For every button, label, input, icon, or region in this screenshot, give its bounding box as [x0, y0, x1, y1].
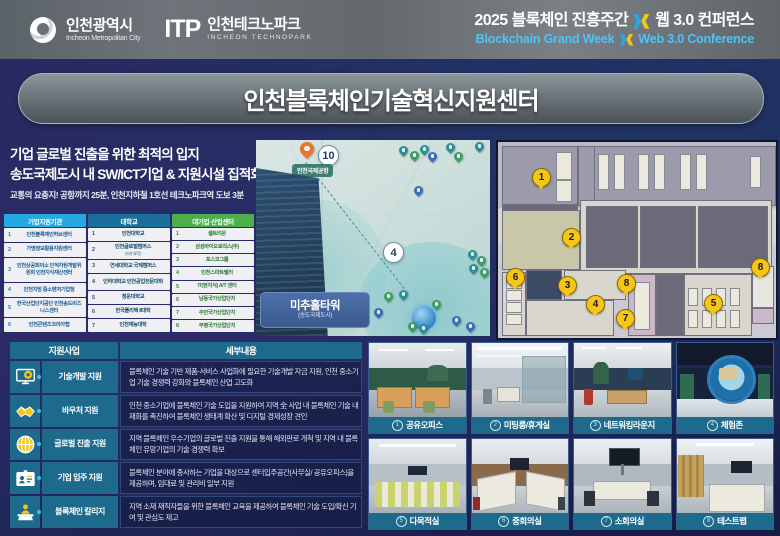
program-label: 바우처 지원 — [42, 395, 118, 427]
floor-furniture — [506, 290, 522, 301]
program-row: 기업 입주 지원 블록체인 분야에 종사하는 기업을 대상으로 센터입주공간(사… — [10, 462, 362, 494]
floor-furniture — [688, 288, 698, 306]
map-pin[interactable] — [477, 256, 486, 268]
incheon-name-en: Incheon Metropolitan City — [66, 35, 140, 42]
floor-furniture — [688, 310, 698, 328]
lead-block: 기업 글로벌 진출을 위한 최적의 입지 송도국제도시 내 SW/ICT기업 &… — [10, 145, 272, 201]
gallery-item[interactable]: 2 미팅룸/휴게실 — [471, 342, 570, 434]
org-row-num: 5 — [172, 284, 183, 290]
org-row-name: 한국산업단지공단 인천송도비즈니스센터 — [15, 301, 86, 314]
support-programs-table: 지원사업 세부내용 기술개발 지원 블록체인 기술 기반 제품-서비스 사업화에… — [10, 342, 362, 528]
org-row: 8부평국가산업단지 — [172, 320, 254, 332]
floor-furniture — [716, 310, 726, 328]
floor-marker-3[interactable]: 3 — [558, 276, 577, 295]
org-header-university: 대학교 — [88, 214, 170, 227]
gallery-item[interactable]: 3 네트워킹라운지 — [573, 342, 672, 434]
org-row-name: 한국폴리텍 II대학 — [99, 308, 170, 315]
map-pin[interactable] — [399, 146, 408, 158]
map-pin[interactable] — [419, 324, 428, 336]
gallery-number: 2 — [490, 420, 501, 431]
org-row-num: 4 — [4, 287, 15, 293]
programs-header-row: 지원사업 세부내용 — [10, 342, 362, 359]
org-row: 7주안국가산업단지 — [172, 307, 254, 319]
program-desc: 지역 소재 재직자들을 위한 블록체인 교육을 제공하여 블록체인 기술 도입/… — [120, 496, 362, 528]
programs-header-col1: 지원사업 — [10, 342, 118, 359]
facility-photo-shared-office — [369, 343, 466, 417]
programs-header-col2: 세부내용 — [120, 342, 362, 359]
gallery-caption: 소회의실 — [615, 515, 644, 527]
org-row: 5IT(현지식) A/T 센터 — [172, 281, 254, 293]
org-column-enterprise: 대기업·산업센터 1셀트리온 2삼성바이오로직스(주) 3포스코그룹 4인천스마… — [172, 214, 254, 332]
event-title-en-b: Web 3.0 Conference — [638, 33, 754, 46]
org-row-name: 인천대학교 — [99, 231, 170, 238]
id-card-icon — [10, 462, 40, 494]
floor-furniture — [556, 152, 572, 180]
org-row-num: 7 — [88, 323, 99, 329]
floor-room — [526, 270, 562, 300]
map-pin[interactable] — [480, 268, 489, 280]
org-row-num: 2 — [172, 244, 183, 250]
incheon-name-kr: 인천광역시 — [66, 18, 140, 33]
floor-furniture — [730, 288, 740, 306]
org-row-num: 2 — [88, 247, 99, 253]
org-row-name: 인천글로벌캠퍼스(5개 대학) — [99, 244, 170, 256]
org-row-name: 인천상공회의소 인적자원개발위원회 인천지식재산센터 — [15, 263, 86, 276]
org-row-num: 8 — [172, 323, 183, 329]
map-pin[interactable] — [452, 316, 461, 328]
org-row-name: 인천콘텐츠코리아랩 — [15, 322, 86, 329]
facility-photo-medium-conference-room — [472, 439, 569, 513]
org-row-num: 2 — [4, 247, 15, 253]
map-pin[interactable] — [399, 290, 408, 302]
floor-furniture — [614, 154, 625, 190]
gallery-number: 1 — [392, 420, 403, 431]
org-row-num: 4 — [172, 270, 183, 276]
floor-furniture — [506, 302, 522, 313]
itp-name-en: INCHEON TECHNOPARK — [207, 35, 312, 42]
org-row-name: 연세대학교 국제캠퍼스 — [99, 263, 170, 270]
floor-marker-2[interactable]: 2 — [562, 228, 581, 247]
handshake-icon — [10, 395, 40, 427]
gallery-caption: 다목적실 — [410, 515, 439, 527]
floor-furniture — [638, 154, 649, 190]
org-row: 3인천상공회의소 인적자원개발위원회 인천지식재산센터 — [4, 258, 86, 283]
itp-name-kr: 인천테크노파크 — [207, 17, 312, 32]
org-row-num: 7 — [172, 310, 183, 316]
org-row-num: 3 — [88, 263, 99, 269]
floor-furniture — [730, 310, 740, 328]
org-row-num: 5 — [88, 295, 99, 301]
monitor-gear-icon — [10, 361, 40, 393]
org-row-num: 1 — [172, 231, 183, 237]
org-row-name: 포스코그룹 — [183, 257, 254, 264]
map-badge-airport-distance: 10 — [318, 145, 339, 166]
floor-room — [586, 206, 638, 268]
lead-line-1: 기업 글로벌 진출을 위한 최적의 입지 — [10, 147, 199, 162]
program-row: 글로벌 진출 지원 지역 블록체인 우수기업의 글로벌 진출 지원을 통해 해외… — [10, 429, 362, 461]
org-row: 2삼성바이오로직스(주) — [172, 241, 254, 253]
program-row: 바우처 지원 인천 중소기업에 블록체인 기술 도입을 지원하여 지역 全 사업… — [10, 395, 362, 427]
floor-furniture — [556, 180, 572, 202]
org-row: 6인천콘텐츠코리아랩 — [4, 318, 86, 332]
gallery-number: 5 — [396, 516, 407, 527]
program-label: 블록체인 칼리지 — [42, 496, 118, 528]
org-row-num: 5 — [4, 305, 15, 311]
org-row-name: IT(현지식) A/T 센터 — [183, 283, 254, 290]
org-column-university: 대학교 1인천대학교 2인천글로벌캠퍼스(5개 대학) 3연세대학교 국제캠퍼스… — [88, 214, 170, 332]
map-pin[interactable] — [469, 264, 478, 276]
org-row: 5청운대학교 — [88, 291, 170, 304]
floor-marker-8b[interactable]: 8 — [751, 258, 770, 277]
org-row-name: 부평국가산업단지 — [183, 323, 254, 330]
org-row-num: 3 — [4, 267, 15, 273]
program-desc: 블록체인 기술 기반 제품-서비스 사업화에 필요한 기술개발 자금 지원, 인… — [120, 361, 362, 393]
org-row-name: 주안국가산업단지 — [183, 310, 254, 317]
gallery-item[interactable]: 1 공유오피스 — [368, 342, 467, 434]
tower-name: 미추홀타워 — [290, 300, 340, 313]
event-title-en-a: Blockchain Grand Week — [476, 33, 615, 46]
org-row-name: 청운대학교 — [99, 294, 170, 301]
org-header-support: 기업지원기관 — [4, 214, 86, 227]
org-row-num: 6 — [4, 322, 15, 328]
floor-room — [656, 274, 684, 336]
event-branding: 2025 블록체인 진흥주간 웹 3.0 컨퍼런스 Blockchain Gra… — [474, 13, 780, 46]
org-row-name: 인천재능대학 — [99, 322, 170, 329]
gallery-number: 3 — [590, 420, 601, 431]
map-pin[interactable] — [466, 322, 475, 334]
globe-icon — [10, 429, 40, 461]
facility-photo-exhibit-zone — [677, 343, 774, 417]
program-label: 기업 입주 지원 — [42, 462, 118, 494]
floor-marker-4[interactable]: 4 — [586, 295, 605, 314]
incheon-city-logo: 인천광역시 Incheon Metropolitan City — [0, 17, 140, 43]
floor-furniture — [680, 154, 691, 190]
gallery-caption: 미팅룸/휴게실 — [504, 419, 550, 431]
x-logo-icon — [633, 14, 650, 29]
org-row: 6한국폴리텍 II대학 — [88, 305, 170, 318]
lead-line-2: 송도국제도시 내 SW/ICT기업 & 지원시설 집적화!! — [10, 167, 269, 182]
org-row: 2가명정보활용지원센터 — [4, 243, 86, 257]
lecturer-icon — [10, 496, 40, 528]
gallery-item[interactable]: 7 소회의실 — [573, 438, 672, 530]
itp-wordmark: ITP — [164, 15, 200, 44]
org-row-num: 6 — [88, 309, 99, 315]
map-tower-label: 미추홀타워 (송도국제도시) — [260, 292, 370, 328]
floor-room — [640, 206, 696, 268]
gallery-caption: 공유오피스 — [406, 419, 443, 431]
floor-furniture — [750, 156, 761, 188]
location-map[interactable]: 10 인천국제공항 4 미추홀타워 (송도국제도시) — [256, 140, 490, 336]
poster-root: 인천광역시 Incheon Metropolitan City ITP 인천테크… — [0, 0, 780, 536]
gallery-caption: 네트워킹라운지 — [604, 419, 655, 431]
gallery-number: 7 — [601, 516, 612, 527]
org-row: 2인천글로벌캠퍼스(5개 대학) — [88, 242, 170, 259]
tower-sub: (송도국제도시) — [298, 313, 332, 320]
org-row: 6남동국가산업단지 — [172, 294, 254, 306]
map-pin[interactable] — [475, 142, 484, 154]
program-label: 기술개발 지원 — [42, 361, 118, 393]
map-pin[interactable] — [408, 322, 417, 334]
facility-gallery: 1 공유오피스 2 미팅룸/휴게실 — [368, 342, 774, 530]
org-column-support: 기업지원기관 1인천블록체인허브센터 2가명정보활용지원센터 3인천상공회의소 … — [4, 214, 86, 332]
map-pin[interactable] — [384, 292, 393, 304]
facility-photo-networking-lounge — [574, 343, 671, 417]
itp-logo: ITP 인천테크노파크 INCHEON TECHNOPARK — [164, 15, 312, 44]
floor-plan[interactable]: 1 2 3 4 5 6 7 8 8 — [496, 140, 778, 340]
org-header-enterprise: 대기업·산업센터 — [172, 214, 254, 227]
program-desc: 지역 블록체인 우수기업의 글로벌 진출 지원을 통해 해외판로 개척 및 지역… — [120, 429, 362, 461]
map-pin[interactable] — [428, 152, 437, 164]
gallery-item[interactable]: 6 중회의실 — [471, 438, 570, 530]
page-title: 인천블록체인기술혁신지원센터 — [18, 73, 764, 124]
org-row: 7인천재능대학 — [88, 319, 170, 332]
facility-photo-small-conference-room — [574, 439, 671, 513]
gallery-caption: 중회의실 — [512, 515, 541, 527]
org-row-name: 가명정보활용지원센터 — [15, 246, 86, 253]
facility-photo-multipurpose-room — [369, 439, 466, 513]
incheon-ci-icon — [30, 17, 56, 43]
gallery-caption: 테스트랩 — [717, 515, 746, 527]
org-row-name: 인천블록체인허브센터 — [15, 232, 86, 239]
floor-furniture — [598, 154, 609, 190]
floor-marker-7[interactable]: 7 — [616, 309, 635, 328]
map-pin[interactable] — [374, 308, 383, 320]
floor-marker-6[interactable]: 6 — [506, 268, 525, 287]
floor-furniture — [654, 154, 665, 190]
org-row: 4인하대학교 인천공업전문대학 — [88, 274, 170, 291]
org-row: 1인천대학교 — [88, 228, 170, 241]
floor-furniture — [634, 282, 650, 330]
org-row-num: 6 — [172, 297, 183, 303]
x-logo-icon-small — [619, 34, 633, 46]
org-row: 5한국산업단지공단 인천송도비즈니스센터 — [4, 298, 86, 317]
map-pin[interactable] — [410, 151, 419, 163]
org-row: 1인천블록체인허브센터 — [4, 228, 86, 242]
gallery-item[interactable]: 5 다목적실 — [368, 438, 467, 530]
org-row-name: 남동국가산업단지 — [183, 296, 254, 303]
floor-furniture — [696, 154, 707, 190]
program-row: 블록체인 칼리지 지역 소재 재직자들을 위한 블록체인 교육을 제공하여 블록… — [10, 496, 362, 528]
program-label: 글로벌 진출 지원 — [42, 429, 118, 461]
floor-marker-8[interactable]: 8 — [617, 274, 636, 293]
gallery-number: 8 — [703, 516, 714, 527]
org-row: 3연세대학교 국제캠퍼스 — [88, 260, 170, 273]
lead-line-3: 교통의 요충지! 공항까지 25분, 인천지하철 1호선 테크노파크역 도보 3… — [10, 189, 272, 201]
org-row: 4인천스마트밸리 — [172, 267, 254, 279]
map-pin[interactable] — [454, 152, 463, 164]
event-title-kr-b: 웹 3.0 컨퍼런스 — [655, 13, 754, 29]
org-row-name: 셀트리온 — [183, 231, 254, 238]
gallery-number: 4 — [707, 420, 718, 431]
org-row-name: 삼성바이오로직스(주) — [183, 244, 254, 251]
floor-furniture — [506, 314, 522, 325]
gallery-number: 6 — [498, 516, 509, 527]
facility-photo-meeting-lounge — [472, 343, 569, 417]
org-row: 1셀트리온 — [172, 228, 254, 240]
org-table: 기업지원기관 1인천블록체인허브센터 2가명정보활용지원센터 3인천상공회의소 … — [4, 214, 254, 332]
org-row-num: 4 — [88, 279, 99, 285]
org-row-num: 3 — [172, 257, 183, 263]
map-pin[interactable] — [414, 186, 423, 198]
org-row-name: 인천스마트밸리 — [183, 270, 254, 277]
program-desc: 인천 중소기업에 블록체인 기술 도입을 지원하여 지역 全 사업 내 블록체인… — [120, 395, 362, 427]
org-row-name: 인천지방 중소벤처기업청 — [15, 287, 86, 294]
org-row: 3포스코그룹 — [172, 254, 254, 266]
program-desc: 블록체인 분야에 종사하는 기업을 대상으로 센터입주공간(사무실/ 공유오피스… — [120, 462, 362, 494]
gallery-caption: 체험존 — [721, 419, 743, 431]
floor-marker-1[interactable]: 1 — [532, 168, 551, 187]
org-row-name: 인하대학교 인천공업전문대학 — [99, 279, 170, 286]
event-title-kr-a: 2025 블록체인 진흥주간 — [474, 13, 628, 29]
map-pin-airport[interactable] — [300, 142, 314, 161]
gallery-item[interactable]: 8 테스트랩 — [676, 438, 775, 530]
org-row-num: 1 — [88, 231, 99, 237]
floor-marker-5[interactable]: 5 — [704, 294, 723, 313]
facility-photo-test-lab — [677, 439, 774, 513]
org-row: 4인천지방 중소벤처기업청 — [4, 283, 86, 297]
map-badge-center-distance: 4 — [383, 242, 404, 263]
floor-room — [752, 308, 774, 324]
page-header: 인천광역시 Incheon Metropolitan City ITP 인천테크… — [0, 0, 780, 59]
gallery-item[interactable]: 4 체험존 — [676, 342, 775, 434]
org-row-num: 1 — [4, 232, 15, 238]
program-row: 기술개발 지원 블록체인 기술 기반 제품-서비스 사업화에 필요한 기술개발 … — [10, 361, 362, 393]
page-title-text: 인천블록체인기술혁신지원센터 — [243, 81, 538, 116]
